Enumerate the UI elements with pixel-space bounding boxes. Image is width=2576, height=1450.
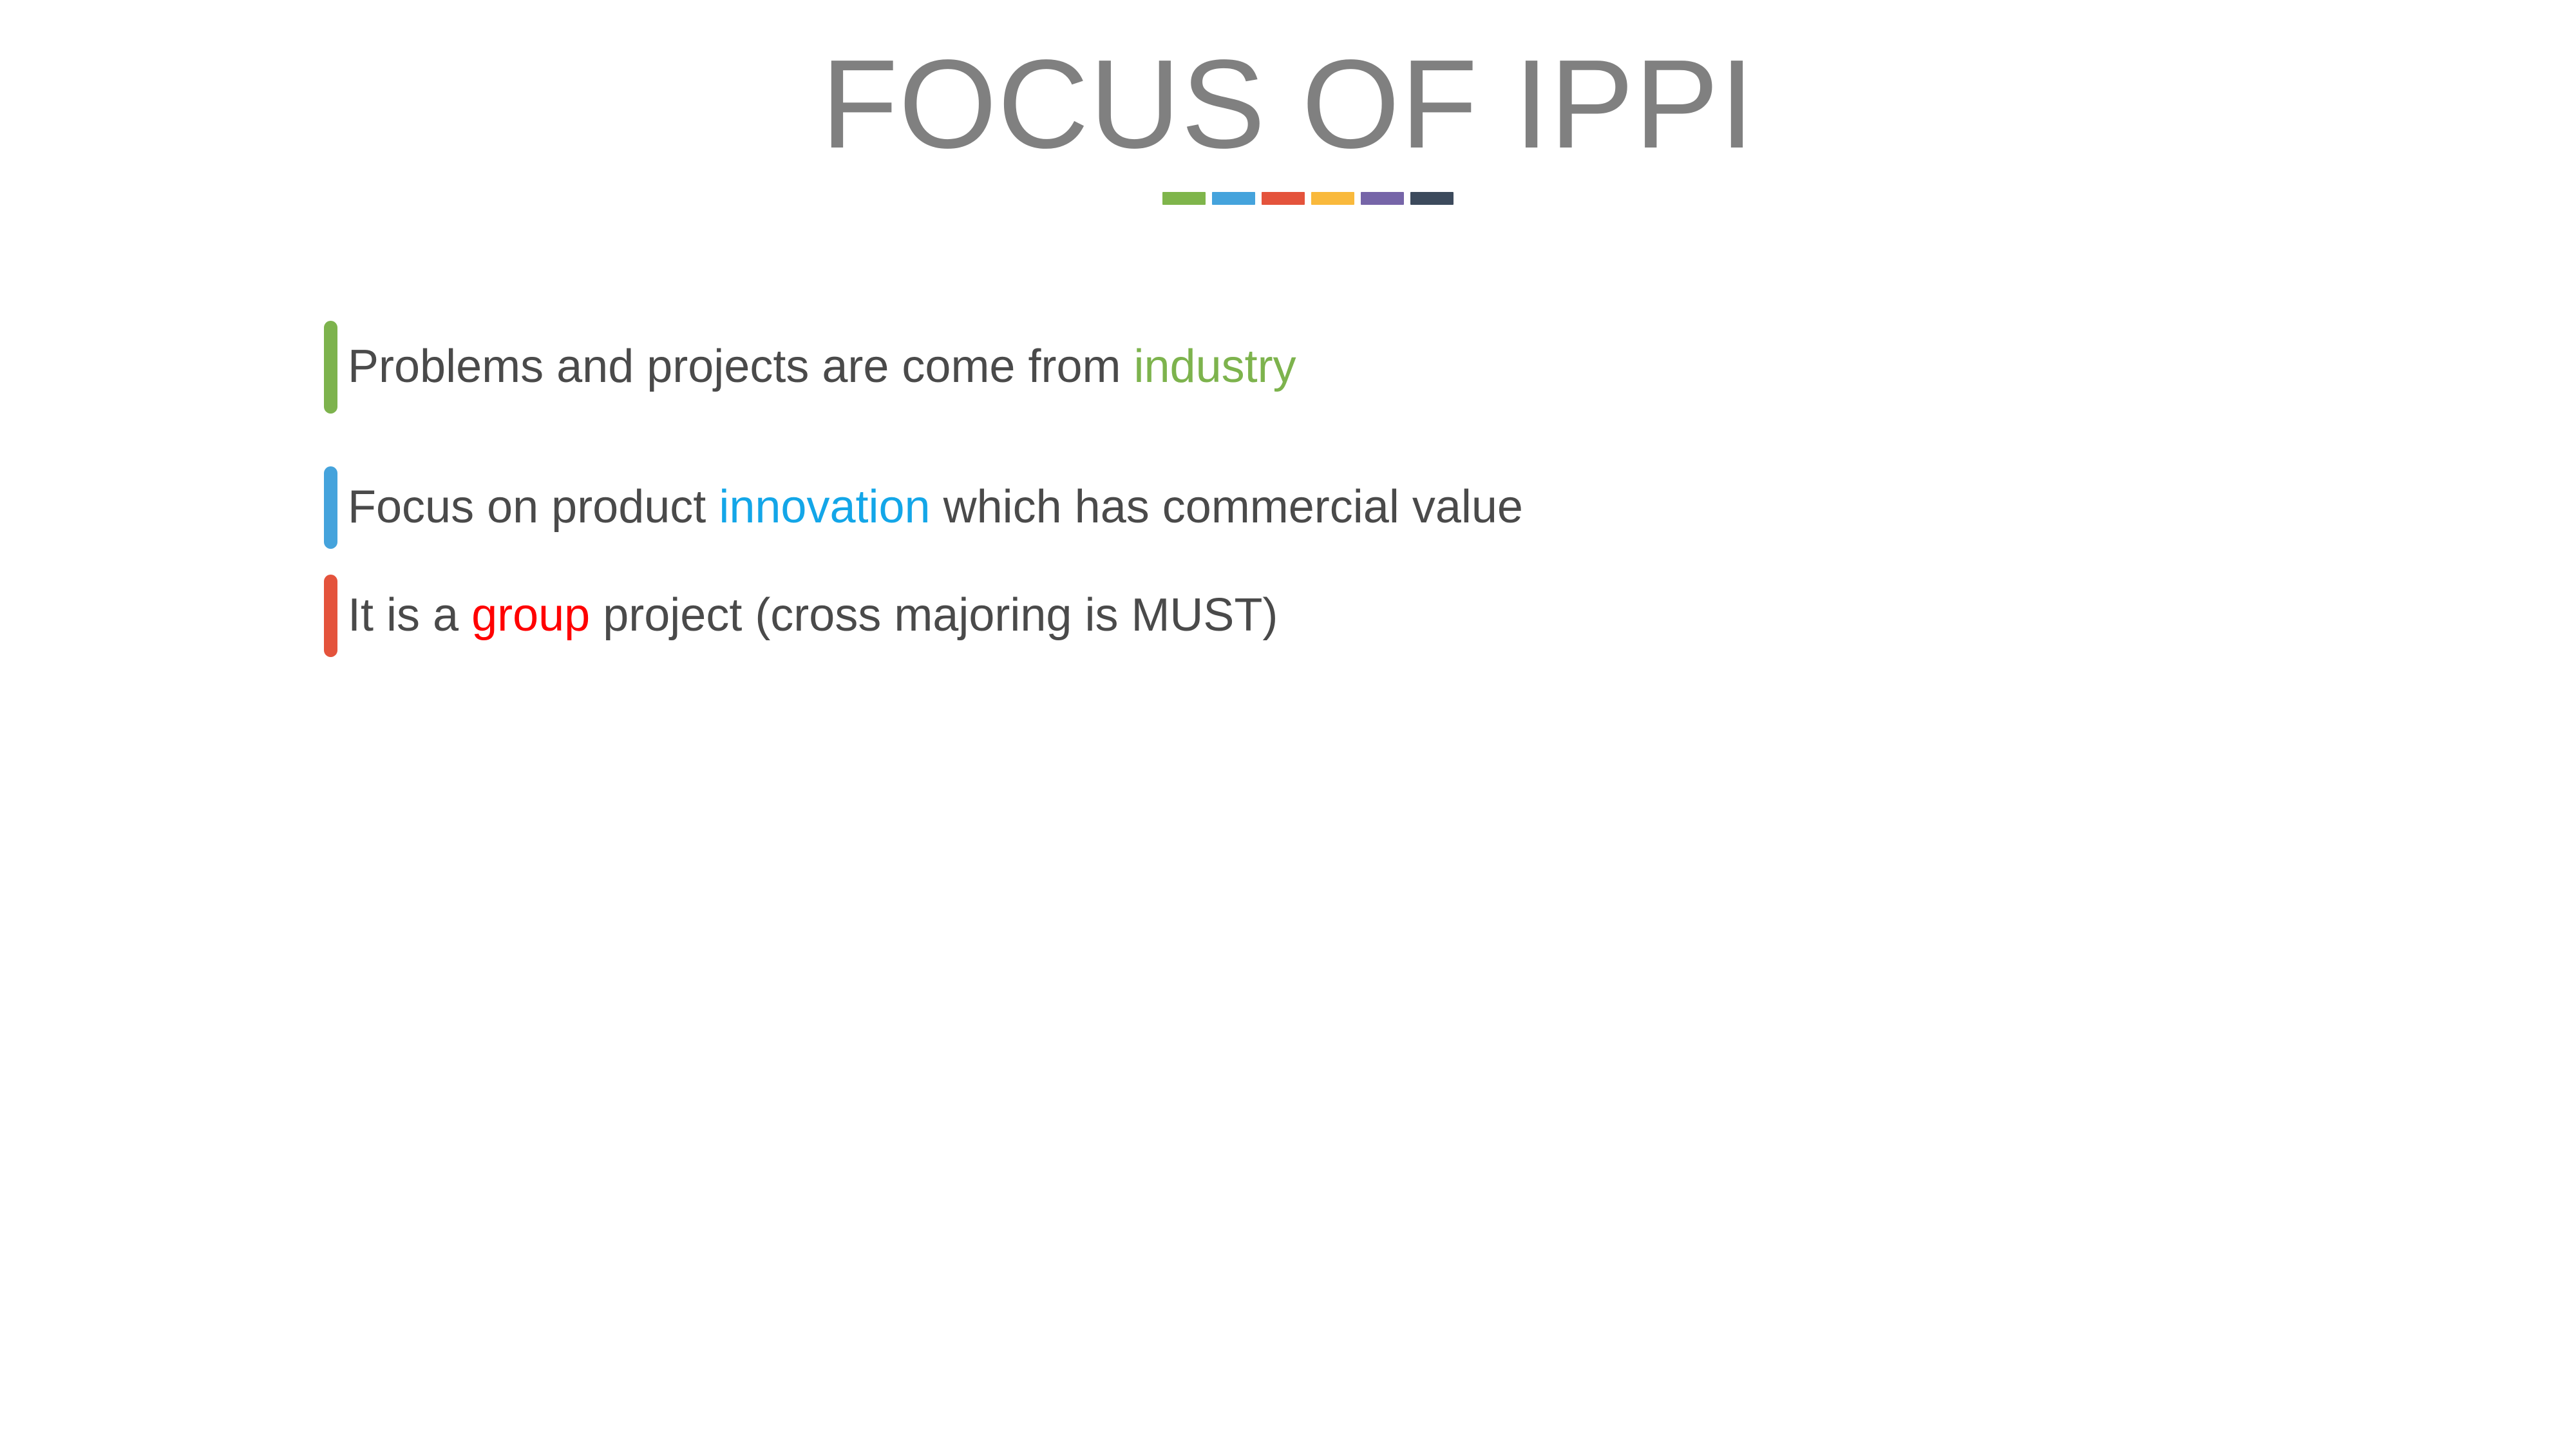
presentation-slide: FOCUS OF IPPI Problems and projects are …: [0, 0, 2576, 1450]
bullet-text-3: It is a group project (cross majoring is…: [348, 587, 1278, 644]
list-item: Focus on product innovation which has co…: [324, 459, 2449, 556]
bullet-marker-blue: [324, 466, 337, 549]
list-item: It is a group project (cross majoring is…: [324, 568, 2449, 664]
bullet-marker-red: [324, 575, 337, 657]
accent-bar-row: [0, 192, 2576, 205]
accent-bar-red: [1262, 192, 1305, 205]
title-block: FOCUS OF IPPI: [0, 39, 2576, 205]
bullet-text-2: Focus on product innovation which has co…: [348, 479, 1523, 536]
bullet-text-1: Problems and projects are come from indu…: [348, 339, 1296, 396]
bullet-marker-green: [324, 321, 337, 414]
bullet-list: Problems and projects are come from indu…: [324, 319, 2449, 664]
accent-bar-purple: [1361, 192, 1404, 205]
accent-bar-navy: [1410, 192, 1454, 205]
accent-bar-green: [1162, 192, 1206, 205]
list-item: Problems and projects are come from indu…: [324, 319, 2449, 415]
page-title: FOCUS OF IPPI: [0, 39, 2576, 170]
accent-bar-blue: [1212, 192, 1255, 205]
accent-bar-yellow: [1311, 192, 1354, 205]
